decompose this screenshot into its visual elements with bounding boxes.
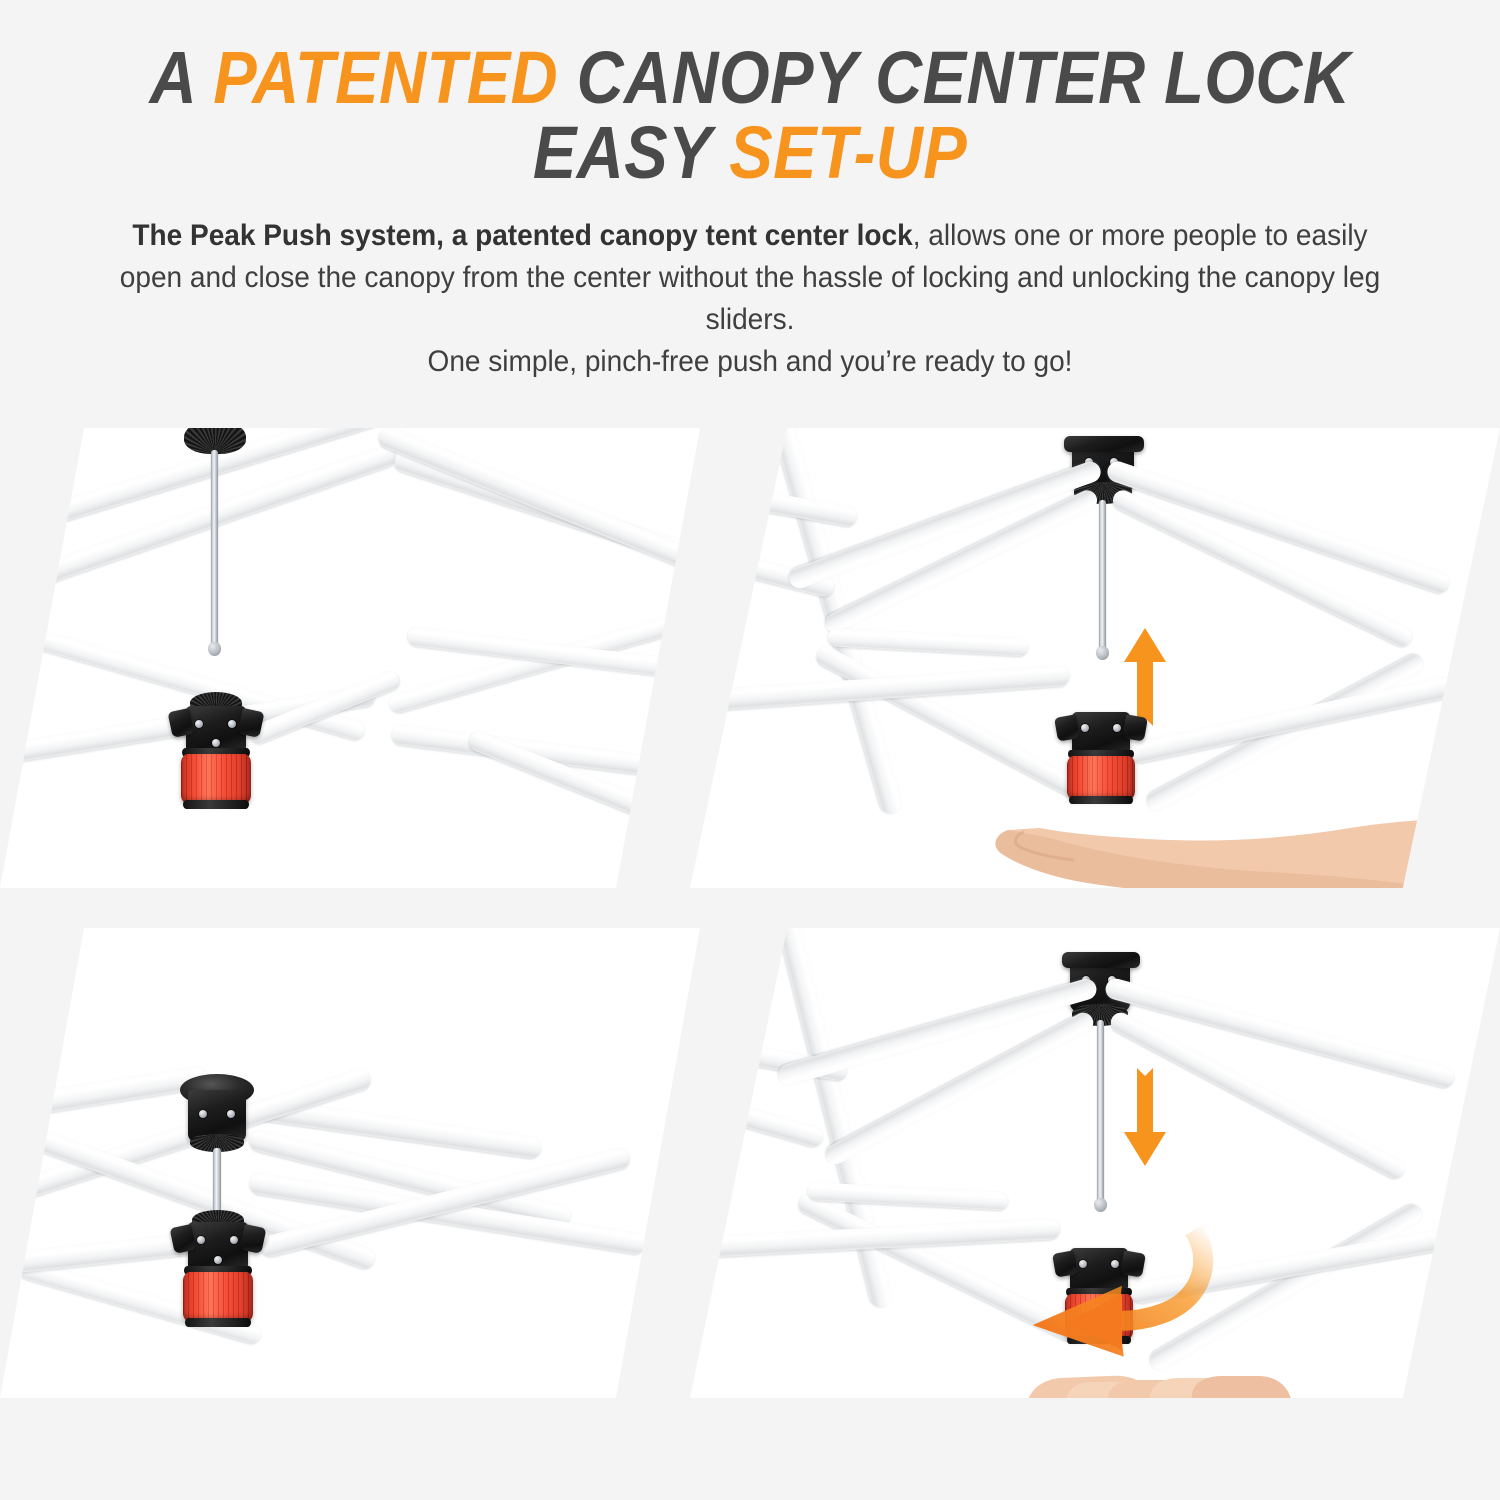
- title-text-easy: EASY: [533, 111, 729, 194]
- tube-left-upper-cross: [690, 468, 858, 528]
- top-hub-screw-right: [227, 1110, 235, 1118]
- rod-tip: [1094, 1198, 1107, 1212]
- top-hub-screw-left: [199, 1110, 207, 1118]
- page-title-line-2: EASY SET-UP: [90, 115, 1410, 190]
- tube-scissor-left: [808, 1182, 1009, 1210]
- tube-top-left-arm: [0, 1065, 209, 1127]
- photo-hand-twist-down: [690, 928, 1500, 1398]
- description-paragraph: The Peak Push system, a patented canopy …: [38, 215, 1463, 383]
- steel-push-rod: [1097, 1020, 1104, 1202]
- lock-screw-right: [228, 720, 236, 728]
- photo-canopy-open-locked: [0, 928, 700, 1398]
- center-lock-wing-right: [1122, 714, 1148, 741]
- panel-grid: [0, 404, 1500, 1500]
- description-bold-lead: The Peak Push system, a patented canopy …: [132, 219, 912, 252]
- panel-2-push-up: [690, 428, 1500, 888]
- red-lock-barrel: [181, 754, 251, 804]
- center-lock-wing-left: [1054, 714, 1080, 741]
- lock-screw-center: [212, 739, 220, 747]
- header-block: A PATENTED CANOPY CENTER LOCK EASY SET-U…: [0, 0, 1500, 382]
- lock-screw-center: [214, 1256, 222, 1264]
- rod-tip: [208, 642, 221, 656]
- title-text-canopy-center-lock: CANOPY CENTER LOCK: [558, 36, 1350, 119]
- title-highlight-set-up: SET-UP: [729, 111, 967, 194]
- open-palm-hand: [990, 786, 1500, 888]
- steel-push-rod: [211, 450, 218, 646]
- orange-down-arrow: [1122, 1056, 1168, 1168]
- description-last-line: One simple, pinch-free push and you’re r…: [428, 345, 1073, 378]
- panel-1-frame-closed: [0, 428, 700, 888]
- lock-screw-left: [195, 720, 203, 728]
- lock-barrel-rim-bottom: [185, 1318, 251, 1327]
- tube-upper-right-long: [392, 449, 700, 593]
- top-hub-cap: [1062, 952, 1140, 968]
- rod-tip: [1096, 646, 1109, 660]
- lock-screw-left: [1081, 724, 1089, 732]
- top-hub-cap: [1064, 436, 1144, 452]
- lock-screw-left: [197, 1236, 205, 1244]
- red-lock-barrel: [183, 1272, 253, 1322]
- page-title-line-1: A PATENTED CANOPY CENTER LOCK: [90, 40, 1410, 115]
- photo-hand-push-up: [690, 428, 1500, 888]
- title-text-a: A: [150, 36, 214, 119]
- lock-screw-right: [230, 1236, 238, 1244]
- panel-3-frame-locked: [0, 928, 700, 1398]
- center-lock-body: [1072, 712, 1130, 754]
- lock-screw-right: [1113, 724, 1121, 732]
- tube-left-upper-cross2: [690, 1074, 825, 1148]
- tube-cross-long-left: [690, 665, 1070, 715]
- orange-twist-arrow: [1026, 1224, 1216, 1334]
- lock-barrel-rim-bottom: [183, 800, 249, 809]
- steel-push-rod: [1099, 500, 1106, 650]
- photo-canopy-closed: [0, 428, 700, 888]
- gripping-hand: [1016, 1320, 1316, 1398]
- tube-cross-long-right: [1128, 661, 1500, 765]
- title-highlight-patented: PATENTED: [213, 36, 558, 119]
- panel-4-twist-down: [690, 928, 1500, 1398]
